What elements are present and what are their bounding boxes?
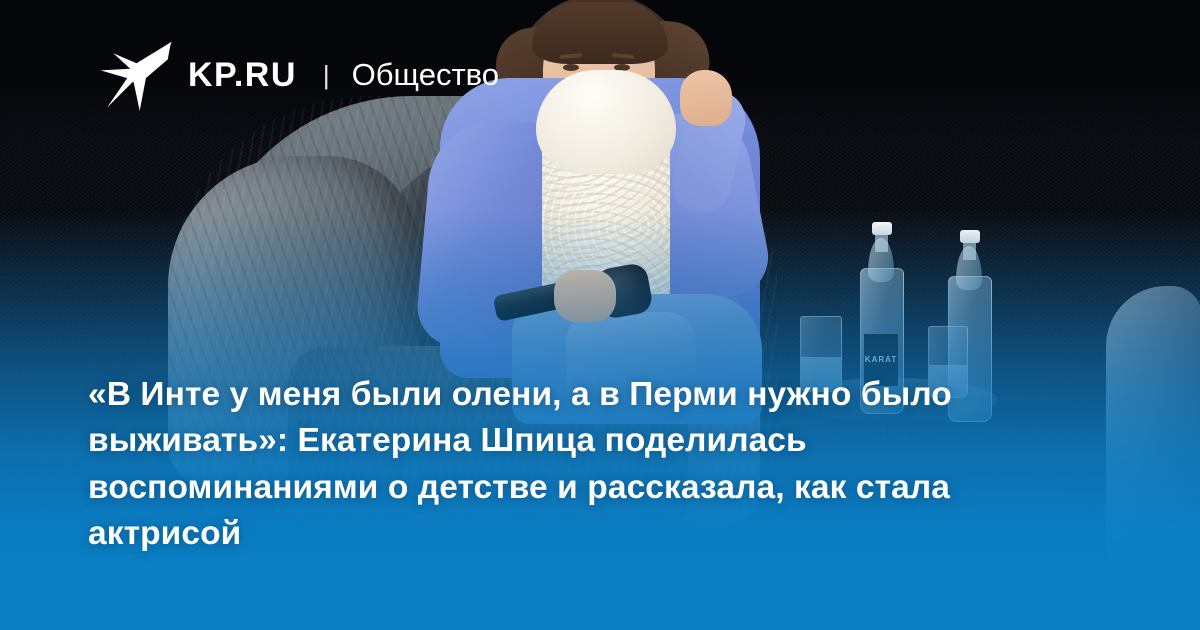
header-separator: | (323, 62, 330, 88)
rubric-label[interactable]: Общество (352, 57, 499, 93)
headline-text: «В Инте у меня были олени, а в Перми нуж… (88, 372, 1082, 558)
hair-fringe (532, 2, 668, 64)
brand-name[interactable]: KP.RU (188, 56, 297, 95)
raised-hand-fist (680, 70, 732, 126)
scarf-neck-loop (536, 70, 676, 174)
card-header: KP.RU | Общество (96, 36, 499, 114)
blue-solid-footer-band (0, 554, 1200, 630)
swallow-bird-logo-icon (96, 36, 174, 114)
eye-left (563, 64, 579, 71)
social-share-card: KARAT KP.RU | Общество (0, 0, 1200, 630)
